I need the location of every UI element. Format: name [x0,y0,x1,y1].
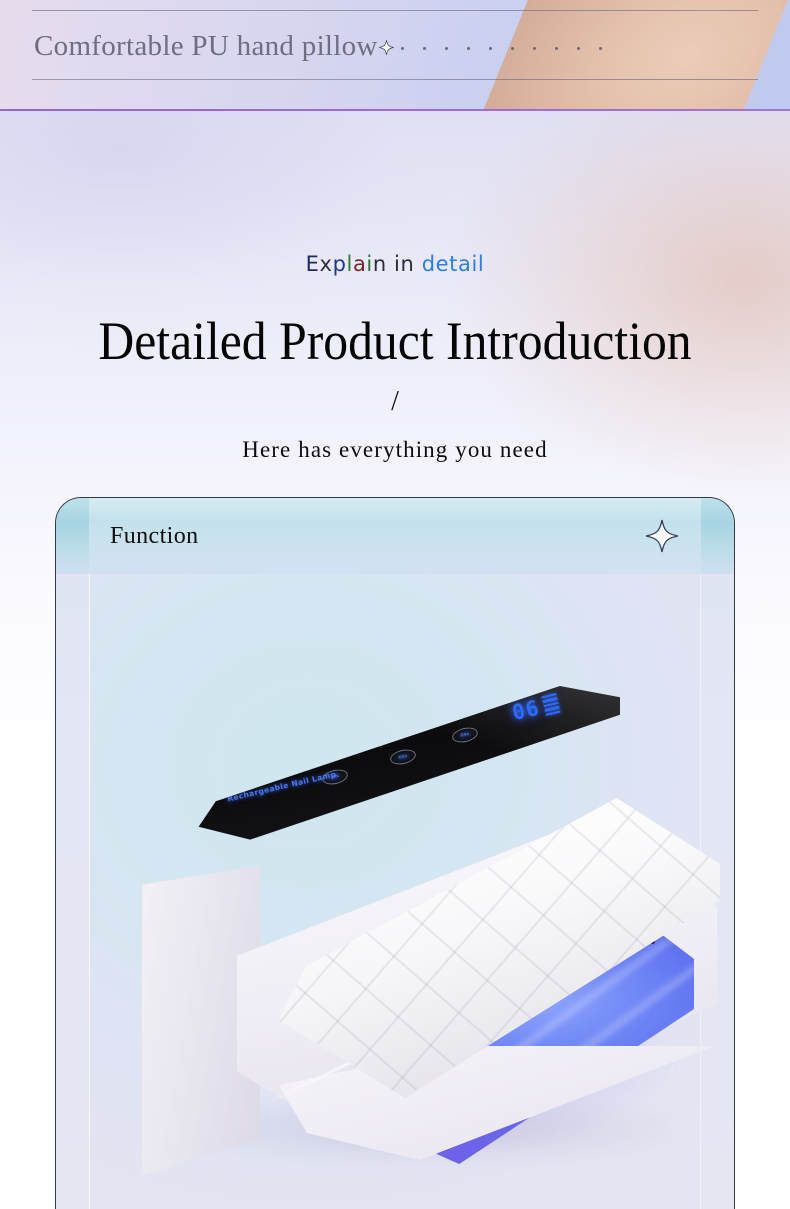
page-root: Comfortable PU hand pillow Explain in de… [0,0,790,1209]
eyebrow-letter-3: p [333,252,347,276]
banner-title-group: Comfortable PU hand pillow [34,22,621,70]
touch-button-99s-label: 99s [460,732,470,739]
banner-dot-leader [401,47,621,50]
eyebrow-highlight: detail [422,252,485,276]
product-photo-uv-nail-lamp: 06 ON 60s [90,574,700,1209]
eyebrow-letter-5: a [353,252,366,276]
device-control-panel: 06 ON 60s [190,686,620,846]
title-divider: / [0,386,790,418]
function-card-header: Function [56,498,734,574]
touch-button-60s-label: 60s [398,754,408,761]
four-point-star-icon [379,40,394,55]
banner-rule-bottom [32,79,758,80]
four-point-star-icon [645,519,679,553]
function-card: Function [55,497,735,1209]
eyebrow-middle: in [387,252,422,276]
eyebrow-letter-1: E [306,252,320,276]
page-title: Detailed Product Introduction [32,306,759,376]
banner-title: Comfortable PU hand pillow [34,30,378,63]
function-card-body-inner: 06 ON 60s [89,574,701,1209]
page-subtitle: Here has everything you need [0,437,790,463]
banner-bottom-accent-rule [0,109,790,111]
eyebrow-letter-2: x [320,252,333,276]
eyebrow-explain-in-detail: Explain in detail [0,252,790,276]
banner-rule-top [32,10,758,11]
function-card-body: 06 ON 60s [56,574,734,1209]
function-card-title: Function [110,523,199,550]
product-device: 06 ON 60s [142,686,722,1156]
function-card-header-inner: Function [89,498,701,574]
eyebrow-letter-7: n [373,252,387,276]
top-banner: Comfortable PU hand pillow [0,0,790,110]
